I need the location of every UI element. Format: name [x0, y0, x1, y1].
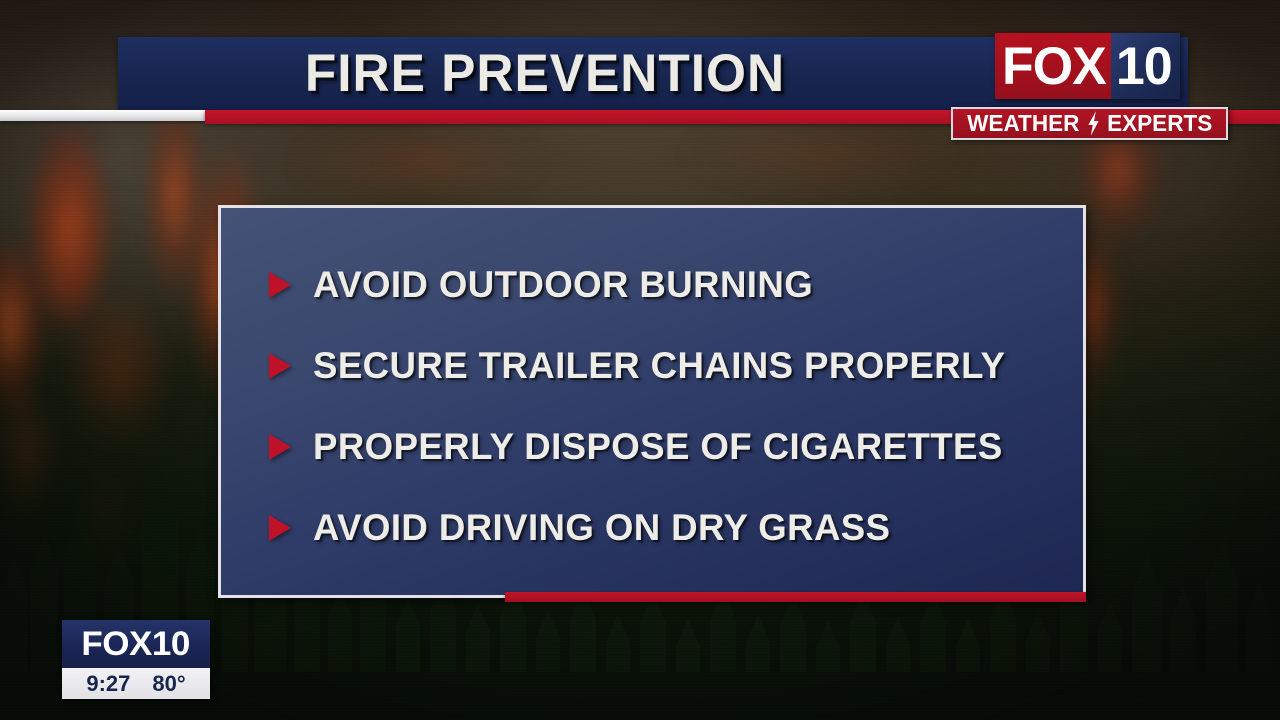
station-bug-info: 9:27 80° [62, 668, 210, 699]
list-item: PROPERLY DISPOSE OF CIGARETTES [221, 406, 1083, 487]
clock-time: 9:27 [86, 673, 130, 695]
list-item: AVOID OUTDOOR BURNING [221, 244, 1083, 325]
header-white-accent [0, 110, 205, 121]
list-item: AVOID DRIVING ON DRY GRASS [221, 487, 1083, 568]
fox10-logo: FOX 10 [995, 33, 1180, 99]
list-item-label: AVOID OUTDOOR BURNING [313, 264, 813, 306]
tips-list: AVOID OUTDOOR BURNING SECURE TRAILER CHA… [221, 244, 1083, 568]
broadcast-graphic-screen: FIRE PREVENTION FOX 10 WEATHER EXPERTS A… [0, 0, 1280, 720]
experts-label: EXPERTS [1107, 112, 1212, 135]
station-bug: FOX10 9:27 80° [62, 620, 210, 699]
list-item-label: PROPERLY DISPOSE OF CIGARETTES [313, 426, 1003, 468]
triangle-bullet-icon [269, 515, 291, 541]
station-bug-logo: FOX10 [62, 620, 210, 668]
fox-logo-blue-block: 10 [1111, 33, 1181, 99]
lightning-bolt-icon [1087, 111, 1100, 136]
fire-prevention-tips-panel: AVOID OUTDOOR BURNING SECURE TRAILER CHA… [218, 205, 1086, 598]
fox-logo-red-block: FOX [995, 33, 1111, 99]
triangle-bullet-icon [269, 434, 291, 460]
panel-red-accent [505, 592, 1086, 602]
weather-label: WEATHER [967, 112, 1079, 135]
weather-experts-banner: WEATHER EXPERTS [951, 107, 1228, 140]
fox-logo-text: FOX [1002, 40, 1106, 93]
list-item-label: AVOID DRIVING ON DRY GRASS [313, 507, 890, 549]
triangle-bullet-icon [269, 272, 291, 298]
page-title: FIRE PREVENTION [162, 38, 928, 108]
channel-number-text: 10 [1116, 40, 1172, 93]
list-item-label: SECURE TRAILER CHAINS PROPERLY [313, 345, 1005, 387]
temperature-reading: 80° [152, 673, 185, 695]
list-item: SECURE TRAILER CHAINS PROPERLY [221, 325, 1083, 406]
station-bug-logo-text: FOX10 [82, 627, 190, 661]
triangle-bullet-icon [269, 353, 291, 379]
